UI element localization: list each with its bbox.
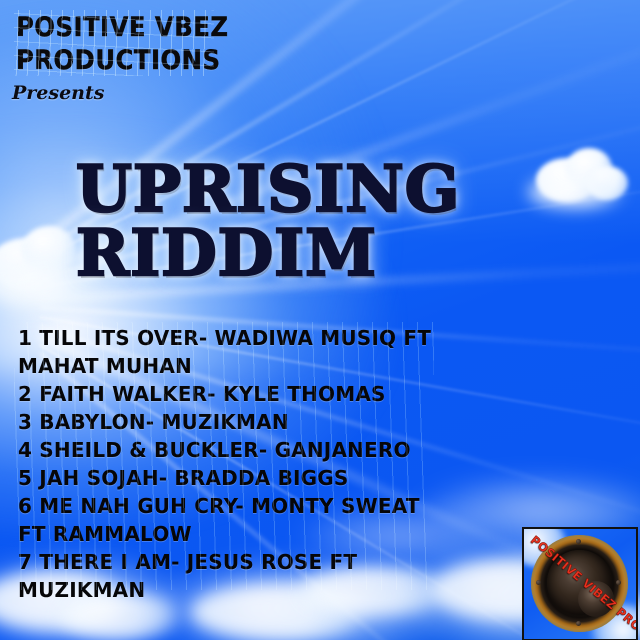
track-line: 1 TILL ITS OVER- WADIWA MUSIQ FT [18,324,438,352]
track-line: 5 JAH SOJAH- BRADDA BIGGS [18,464,438,492]
album-title-line2: RIDDIM [76,216,377,291]
label-studio-line2: PRODUCTIONS [16,45,220,76]
track-line: 7 THERE I AM- JESUS ROSE FT [18,548,438,576]
track-line: 6 ME NAH GUH CRY- MONTY SWEAT [18,492,438,520]
album-cover: POSITIVE VBEZ PRODUCTIONS Presents UPRIS… [0,0,640,640]
track-line: MUZIKMAN [18,576,438,604]
track-line: 3 BABYLON- MUZIKMAN [18,408,438,436]
label-logo-badge: POSITIVE VIBEZ PRODUCTIONS [522,527,638,640]
track-line: MAHAT MUHAN [18,352,438,380]
speaker-screw [536,580,541,585]
presents-text: Presents [12,82,104,104]
track-line: 2 FAITH WALKER- KYLE THOMAS [18,380,438,408]
track-line: FT RAMMALOW [18,520,438,548]
track-line: 4 SHEILD & BUCKLER- GANJANERO [18,436,438,464]
speaker-screw [576,621,581,626]
tracklist: 1 TILL ITS OVER- WADIWA MUSIQ FT MAHAT M… [18,324,438,604]
speaker-screw [576,539,581,544]
speaker-screw [616,580,621,585]
label-studio-line1: POSITIVE VBEZ [16,12,228,43]
